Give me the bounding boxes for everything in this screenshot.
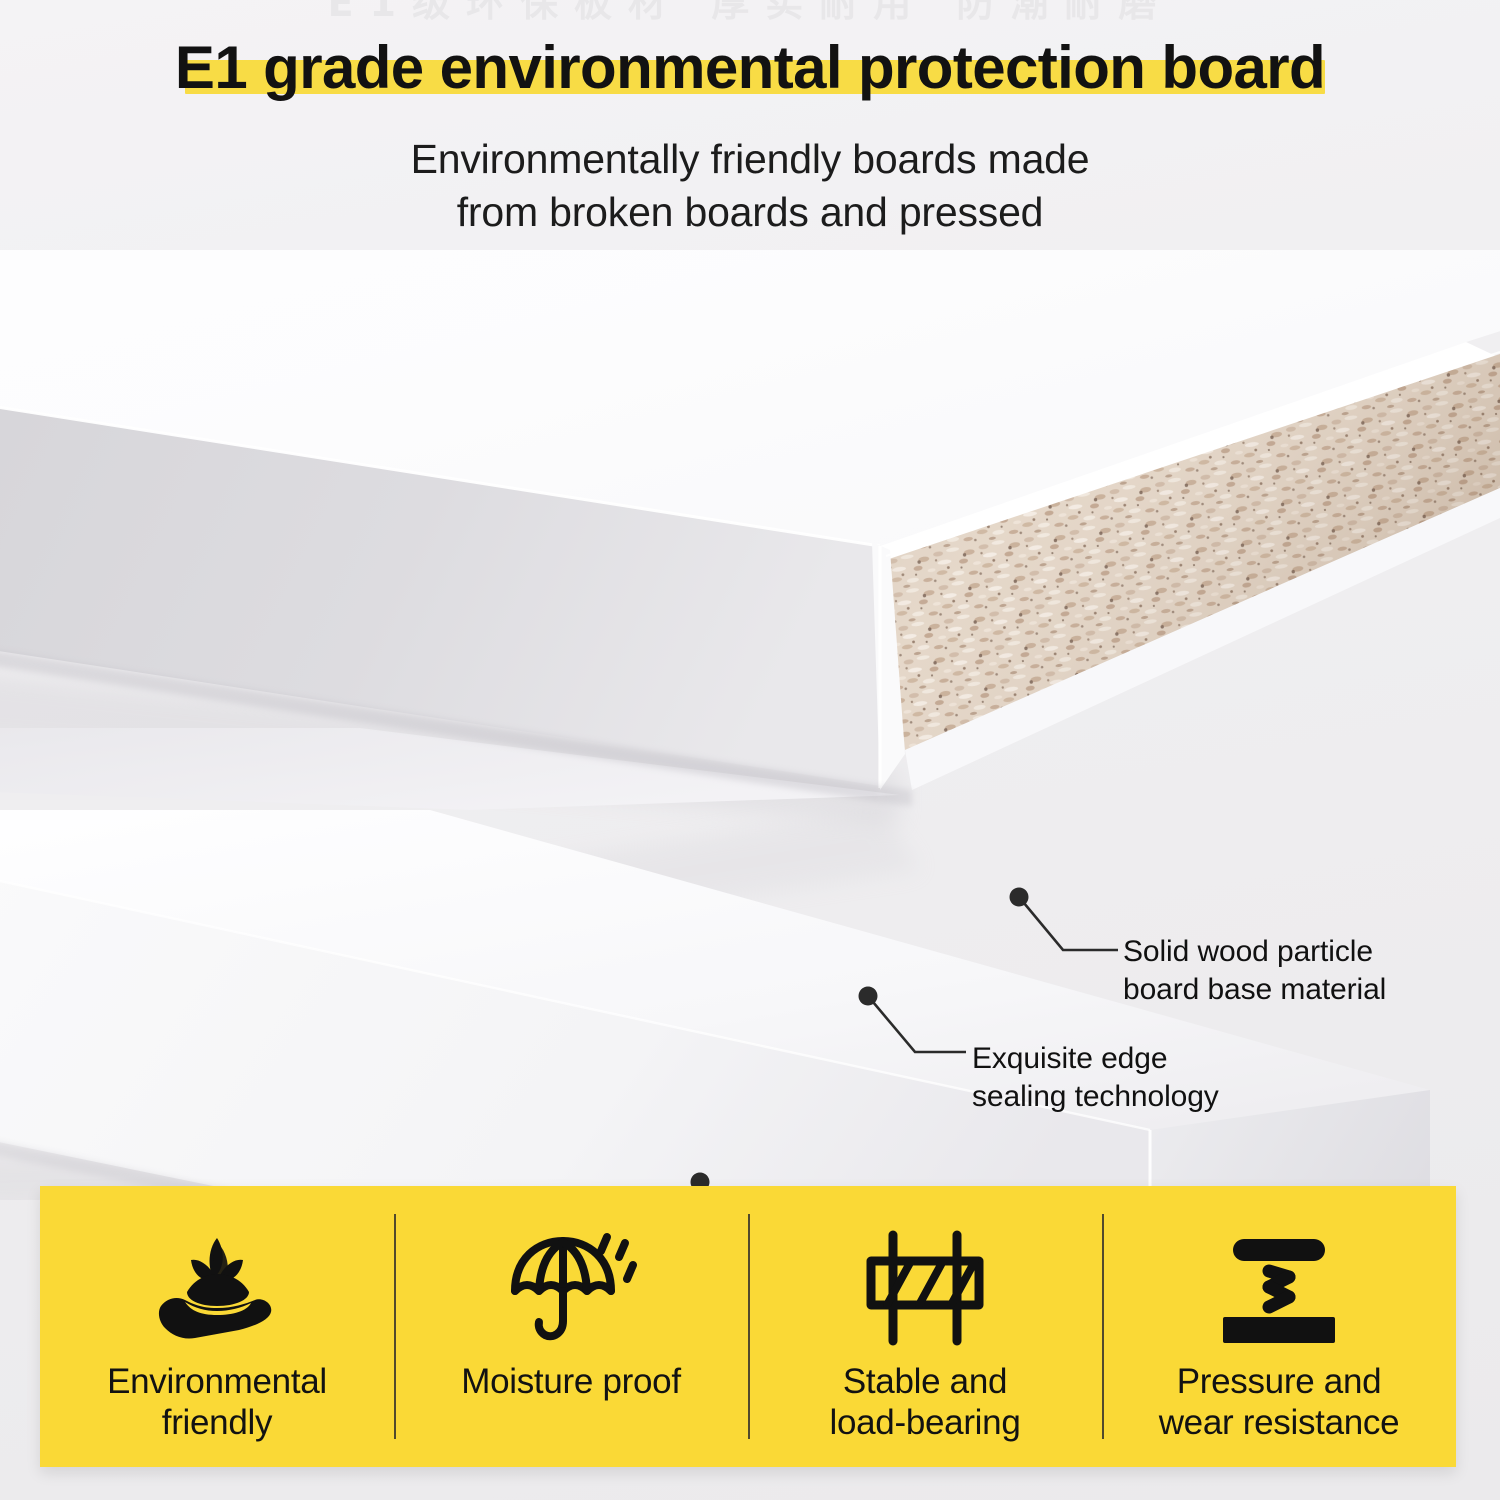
feature-item-stable-load-bearing: Stable and load-bearing <box>748 1186 1102 1467</box>
product-image-canvas: E1级环保板材 厚实耐用 防潮耐磨 E1 grade environmental… <box>0 0 1500 1500</box>
feature-bar: Environmental friendly <box>40 1186 1456 1467</box>
feature-item-pressure-wear-resistance: Pressure and wear resistance <box>1102 1186 1456 1467</box>
boards-illustration <box>0 250 1500 1200</box>
feature-2-line-1: Moisture proof <box>461 1362 681 1403</box>
feature-label-environmental-friendly: Environmental friendly <box>107 1362 327 1444</box>
callout-label-particle: Solid wood particle board base material <box>1123 933 1386 1009</box>
product-photo: Solid wood particle board base material … <box>0 250 1500 1200</box>
press-compression-icon <box>1213 1224 1345 1352</box>
subtitle-line-2: from broken boards and pressed <box>0 186 1500 239</box>
header: E1 grade environmental protection board … <box>0 0 1500 255</box>
page-title: E1 grade environmental protection board <box>175 38 1325 98</box>
feature-label-pressure-wear-resistance: Pressure and wear resistance <box>1159 1362 1400 1444</box>
feature-3-line-2: load-bearing <box>830 1403 1021 1444</box>
feature-4-line-1: Pressure and <box>1159 1362 1400 1403</box>
callout-particle-line-1: Solid wood particle <box>1123 933 1386 971</box>
callout-edge-line-1: Exquisite edge <box>972 1040 1219 1078</box>
feature-item-environmental-friendly: Environmental friendly <box>40 1186 394 1467</box>
barricade-icon <box>861 1224 989 1352</box>
umbrella-rain-icon <box>501 1224 641 1352</box>
callout-particle-line-2: board base material <box>1123 971 1386 1009</box>
feature-1-line-1: Environmental <box>107 1362 327 1403</box>
hand-sprout-icon <box>151 1224 283 1352</box>
callout-dot-edge <box>859 987 878 1006</box>
subtitle-line-1: Environmentally friendly boards made <box>0 133 1500 186</box>
feature-4-line-2: wear resistance <box>1159 1403 1400 1444</box>
callout-edge-line-2: sealing technology <box>972 1078 1219 1116</box>
feature-1-line-2: friendly <box>107 1403 327 1444</box>
feature-3-line-1: Stable and <box>830 1362 1021 1403</box>
callout-label-edge: Exquisite edge sealing technology <box>972 1040 1219 1116</box>
feature-label-moisture-proof: Moisture proof <box>461 1362 681 1403</box>
callout-dot-particle <box>1010 888 1029 907</box>
feature-item-moisture-proof: Moisture proof <box>394 1186 748 1467</box>
page-title-wrap: E1 grade environmental protection board <box>0 38 1500 98</box>
feature-label-stable-load-bearing: Stable and load-bearing <box>830 1362 1021 1444</box>
subtitle: Environmentally friendly boards made fro… <box>0 133 1500 240</box>
